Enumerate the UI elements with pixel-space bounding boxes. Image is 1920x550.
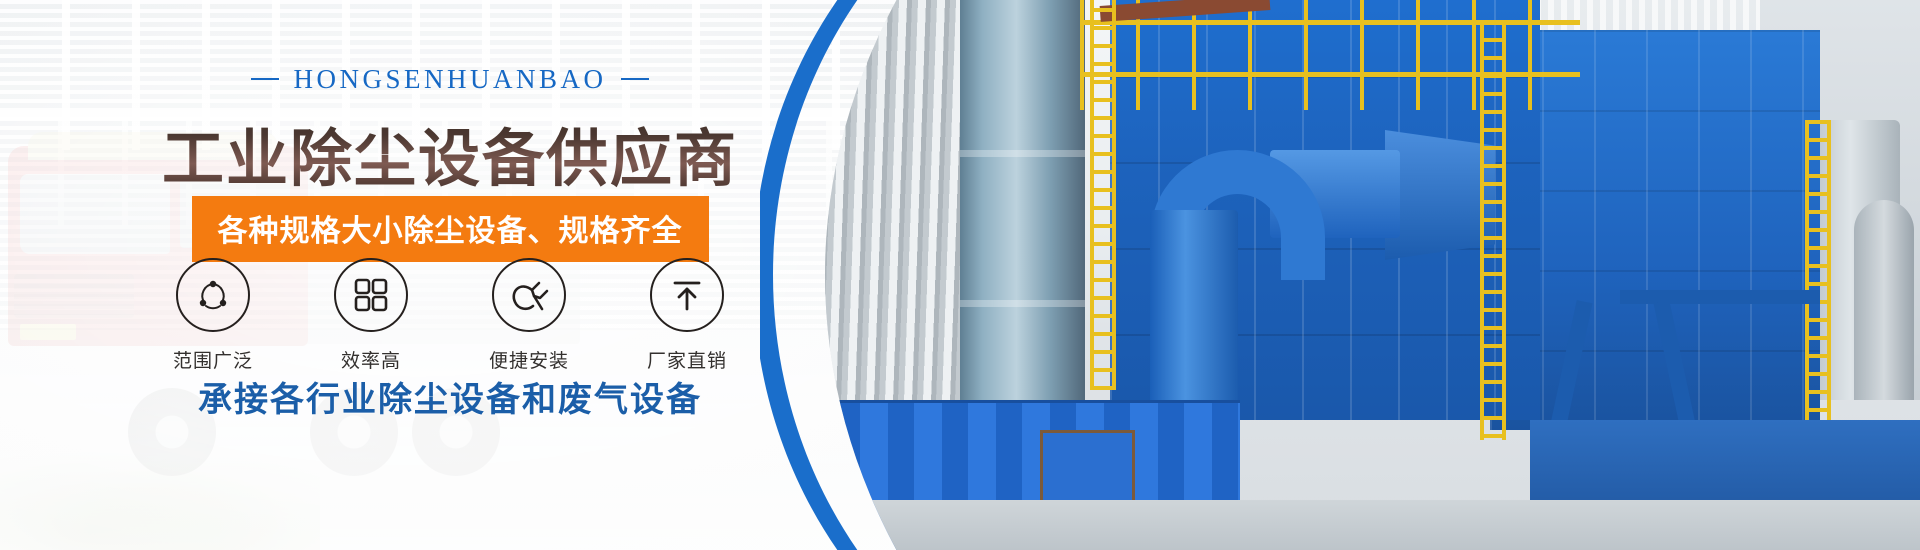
wrench-circle-icon (509, 275, 549, 315)
feature-label: 效率高 (315, 346, 427, 373)
grid-squares-icon (352, 276, 390, 314)
feature-list: 范围广泛 效率高 (0, 258, 900, 373)
feature-icon-ring (334, 258, 408, 332)
access-ladder (1480, 20, 1506, 440)
access-ladder (1090, 0, 1116, 390)
duct-flare (1385, 130, 1495, 260)
subtitle-badge: 各种规格大小除尘设备、规格齐全 (192, 196, 709, 262)
page-title: 工业除尘设备供应商 (0, 108, 900, 198)
dash-left-icon (251, 78, 279, 80)
feature-label: 范围广泛 (157, 346, 269, 373)
support-beam (1620, 290, 1820, 304)
feature-item-range[interactable]: 范围广泛 (157, 258, 269, 373)
hero-banner: HONGSENHUANBAO 工业除尘设备供应商 各种规格大小除尘设备、规格齐全 (0, 0, 1920, 550)
silo-secondary (1854, 200, 1914, 400)
subtitle-bar-wrap: 各种规格大小除尘设备、规格齐全 (0, 196, 900, 262)
ground (790, 500, 1920, 550)
access-ladder (1805, 120, 1831, 450)
stack-band (960, 150, 1085, 157)
upload-arrow-icon (668, 276, 706, 314)
feature-item-installation[interactable]: 便捷安装 (473, 258, 585, 373)
feature-label: 厂家直销 (631, 346, 743, 373)
dust-collector-photo (790, 0, 1920, 550)
tagline: 承接各行业除尘设备和废气设备 (0, 372, 900, 421)
brand-eyebrow-text: HONGSENHUANBAO (293, 64, 606, 94)
dash-right-icon (621, 78, 649, 80)
feature-item-efficiency[interactable]: 效率高 (315, 258, 427, 373)
network-nodes-icon (193, 275, 233, 315)
hero-content: HONGSENHUANBAO 工业除尘设备供应商 各种规格大小除尘设备、规格齐全 (0, 0, 900, 550)
brand-eyebrow: HONGSENHUANBAO (0, 64, 900, 95)
vertical-stack (960, 0, 1085, 420)
feature-icon-ring (650, 258, 724, 332)
feature-icon-ring (492, 258, 566, 332)
feature-label: 便捷安装 (473, 346, 585, 373)
stack-band (960, 300, 1085, 307)
feature-icon-ring (176, 258, 250, 332)
feature-item-factory-direct[interactable]: 厂家直销 (631, 258, 743, 373)
